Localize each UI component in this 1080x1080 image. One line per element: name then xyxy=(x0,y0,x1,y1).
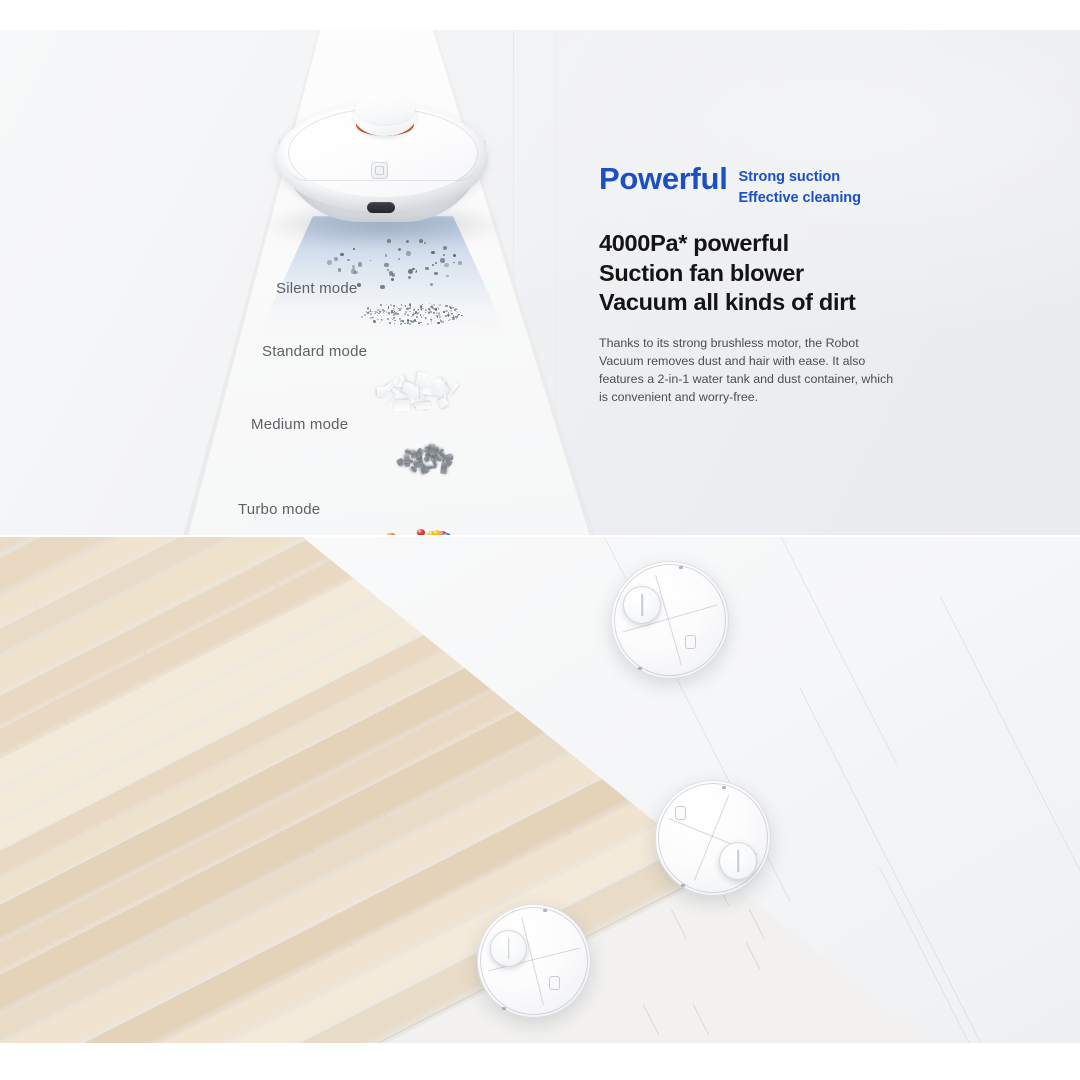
front-sensor-window xyxy=(367,202,395,213)
plank-butt-joint xyxy=(749,910,765,940)
lidar-turret-cap xyxy=(355,94,415,124)
lidar-turret-top xyxy=(719,842,757,880)
robot-vacuum-front-view xyxy=(276,96,488,228)
panel-smart-water-tank: Smart water tank Mop-head moisture contr… xyxy=(0,537,1080,1043)
robot-vacuum-top-1 xyxy=(611,561,729,679)
mi-logo-button-icon xyxy=(675,806,686,820)
bumper-notch-b xyxy=(638,667,642,670)
mi-logo-button-icon xyxy=(685,635,696,649)
product-infographic: Silent mode Standard mode Medium mode Tu… xyxy=(0,0,1080,1080)
eyebrow-headline: Powerful xyxy=(599,163,728,194)
top-headline-line-3: Vacuum all kinds of dirt xyxy=(599,288,929,318)
mode-label-turbo: Turbo mode xyxy=(238,501,320,518)
bumper-notch-a xyxy=(679,566,683,569)
eyebrow-sublines: Strong suction Effective cleaning xyxy=(739,163,861,208)
top-copy-block: Powerful Strong suction Effective cleani… xyxy=(599,163,929,407)
bumper-notch-a xyxy=(722,786,726,789)
plank-butt-joint xyxy=(746,943,761,970)
top-headline: 4000Pa* powerful Suction fan blower Vacu… xyxy=(599,229,929,318)
plank-butt-joint xyxy=(693,1005,709,1036)
top-headline-line-2: Suction fan blower xyxy=(599,259,929,289)
mi-logo-button-icon xyxy=(549,976,560,990)
bumper-notch-b xyxy=(681,884,685,887)
bumper-notch-b xyxy=(502,1007,506,1010)
eyebrow-group: Powerful Strong suction Effective cleani… xyxy=(599,163,929,208)
bumper-notch-a xyxy=(543,909,547,912)
lidar-turret-top xyxy=(623,586,661,624)
top-body-paragraph: Thanks to its strong brushless motor, th… xyxy=(599,335,901,407)
robot-rim xyxy=(658,783,768,893)
mi-logo-button-icon xyxy=(371,162,388,179)
plank-butt-joint xyxy=(671,910,687,940)
mode-label-silent: Silent mode xyxy=(276,280,357,297)
lidar-turret-top xyxy=(490,930,527,967)
top-headline-line-1: 4000Pa* powerful xyxy=(599,229,929,259)
plank-butt-joint xyxy=(643,1005,659,1036)
robot-vacuum-top-3 xyxy=(477,904,591,1018)
robot-vacuum-top-2 xyxy=(655,780,771,896)
mode-label-medium: Medium mode xyxy=(251,416,348,433)
eyebrow-line-2: Effective cleaning xyxy=(739,188,861,209)
eyebrow-line-1: Strong suction xyxy=(739,167,861,188)
panel-powerful-suction: Silent mode Standard mode Medium mode Tu… xyxy=(0,30,1080,535)
mode-label-standard: Standard mode xyxy=(262,343,367,360)
